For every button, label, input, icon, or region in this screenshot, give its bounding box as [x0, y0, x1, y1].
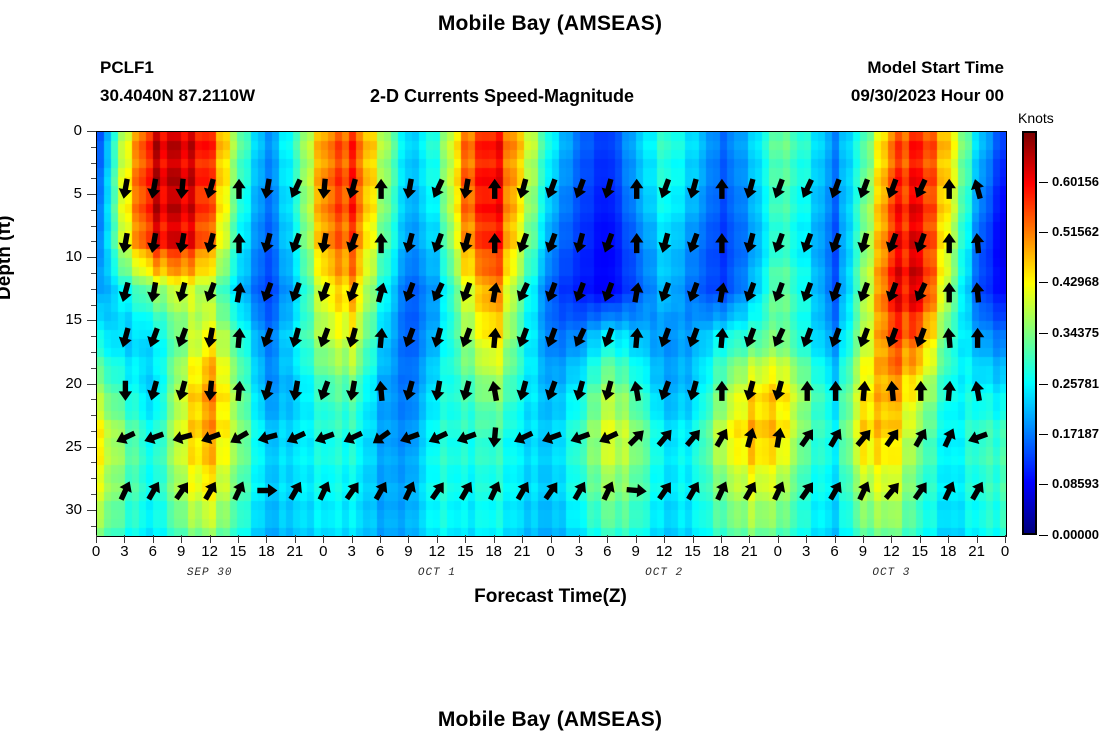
- y-minor-tick: [91, 147, 96, 148]
- y-tick-mark: [87, 257, 96, 258]
- x-tick-mark: [835, 535, 836, 543]
- x-tick-label: 21: [507, 543, 537, 560]
- y-tick-label: 30: [38, 501, 82, 518]
- x-tick-label: 15: [223, 543, 253, 560]
- y-tick-mark: [87, 447, 96, 448]
- x-tick-label: 6: [365, 543, 395, 560]
- y-tick-label: 20: [38, 375, 82, 392]
- x-tick-label: 21: [280, 543, 310, 560]
- y-minor-tick: [91, 289, 96, 290]
- colorbar-tick-label: 0.51562: [1052, 224, 1099, 239]
- x-tick-mark: [238, 535, 239, 543]
- x-tick-mark: [153, 535, 154, 543]
- x-tick-label: 15: [450, 543, 480, 560]
- page-title: Mobile Bay (AMSEAS): [0, 12, 1100, 36]
- y-minor-tick: [91, 526, 96, 527]
- y-tick-mark: [87, 131, 96, 132]
- x-tick-mark: [210, 535, 211, 543]
- y-minor-tick: [91, 462, 96, 463]
- x-tick-label: 9: [848, 543, 878, 560]
- x-tick-label: 9: [621, 543, 651, 560]
- y-tick-mark: [87, 194, 96, 195]
- y-minor-tick: [91, 226, 96, 227]
- x-axis-day-label: SEP 30: [165, 567, 255, 579]
- x-tick-mark: [948, 535, 949, 543]
- x-tick-mark: [778, 535, 779, 543]
- x-tick-label: 0: [763, 543, 793, 560]
- x-tick-label: 6: [820, 543, 850, 560]
- x-tick-mark: [295, 535, 296, 543]
- y-axis-title: Depth (ft): [0, 216, 16, 300]
- x-tick-label: 18: [706, 543, 736, 560]
- current-speed-heatmap: [97, 132, 1006, 536]
- chart-subtitle: 2-D Currents Speed-Magnitude: [370, 86, 634, 107]
- x-tick-mark: [465, 535, 466, 543]
- x-tick-mark: [408, 535, 409, 543]
- y-minor-tick: [91, 478, 96, 479]
- x-tick-mark: [579, 535, 580, 543]
- x-tick-mark: [693, 535, 694, 543]
- x-tick-label: 6: [138, 543, 168, 560]
- x-tick-mark: [636, 535, 637, 543]
- y-minor-tick: [91, 494, 96, 495]
- x-tick-label: 12: [876, 543, 906, 560]
- x-tick-label: 3: [791, 543, 821, 560]
- x-axis-title: Forecast Time(Z): [96, 586, 1005, 608]
- x-tick-label: 3: [564, 543, 594, 560]
- y-minor-tick: [91, 399, 96, 400]
- y-minor-tick: [91, 336, 96, 337]
- x-tick-label: 18: [251, 543, 281, 560]
- x-tick-label: 21: [734, 543, 764, 560]
- x-tick-mark: [977, 535, 978, 543]
- x-tick-mark: [494, 535, 495, 543]
- x-tick-label: 9: [393, 543, 423, 560]
- x-tick-label: 21: [962, 543, 992, 560]
- y-minor-tick: [91, 273, 96, 274]
- colorbar-tick-label: 0.17187: [1052, 426, 1099, 441]
- colorbar-tick-mark: [1039, 182, 1048, 183]
- x-tick-mark: [551, 535, 552, 543]
- x-tick-label: 0: [308, 543, 338, 560]
- heatmap-plot-area[interactable]: [96, 131, 1007, 537]
- y-tick-label: 0: [38, 122, 82, 139]
- y-minor-tick: [91, 210, 96, 211]
- x-tick-label: 3: [337, 543, 367, 560]
- x-tick-mark: [437, 535, 438, 543]
- x-tick-mark: [891, 535, 892, 543]
- x-tick-label: 15: [905, 543, 935, 560]
- x-tick-mark: [124, 535, 125, 543]
- y-tick-label: 25: [38, 438, 82, 455]
- colorbar-unit-label: Knots: [1018, 110, 1054, 126]
- y-minor-tick: [91, 415, 96, 416]
- colorbar-tick-label: 0.60156: [1052, 174, 1099, 189]
- x-tick-mark: [522, 535, 523, 543]
- y-minor-tick: [91, 305, 96, 306]
- x-axis-day-label: OCT 2: [619, 567, 709, 579]
- station-id: PCLF1: [100, 58, 154, 78]
- x-tick-mark: [96, 535, 97, 543]
- x-tick-label: 0: [536, 543, 566, 560]
- x-tick-mark: [380, 535, 381, 543]
- x-tick-mark: [352, 535, 353, 543]
- y-tick-mark: [87, 320, 96, 321]
- x-tick-label: 9: [166, 543, 196, 560]
- colorbar-tick-mark: [1039, 384, 1048, 385]
- x-tick-label: 0: [990, 543, 1020, 560]
- x-tick-mark: [181, 535, 182, 543]
- y-tick-mark: [87, 510, 96, 511]
- x-tick-mark: [1005, 535, 1006, 543]
- colorbar[interactable]: [1022, 131, 1037, 535]
- y-minor-tick: [91, 368, 96, 369]
- model-start-time-value: 09/30/2023 Hour 00: [851, 86, 1004, 106]
- colorbar-tick-mark: [1039, 232, 1048, 233]
- bottom-page-title: Mobile Bay (AMSEAS): [0, 708, 1100, 732]
- x-tick-label: 15: [678, 543, 708, 560]
- colorbar-tick-mark: [1039, 484, 1048, 485]
- x-tick-mark: [664, 535, 665, 543]
- x-tick-label: 12: [195, 543, 225, 560]
- x-tick-mark: [863, 535, 864, 543]
- x-tick-label: 0: [81, 543, 111, 560]
- x-tick-label: 12: [649, 543, 679, 560]
- x-tick-mark: [266, 535, 267, 543]
- colorbar-tick-mark: [1039, 282, 1048, 283]
- y-minor-tick: [91, 241, 96, 242]
- y-minor-tick: [91, 352, 96, 353]
- y-tick-label: 15: [38, 311, 82, 328]
- colorbar-tick-mark: [1039, 333, 1048, 334]
- x-tick-mark: [920, 535, 921, 543]
- colorbar-gradient: [1024, 133, 1035, 533]
- model-start-time-label: Model Start Time: [867, 58, 1004, 78]
- colorbar-tick-mark: [1039, 434, 1048, 435]
- x-tick-label: 6: [592, 543, 622, 560]
- x-tick-label: 12: [422, 543, 452, 560]
- x-tick-mark: [806, 535, 807, 543]
- x-tick-label: 18: [479, 543, 509, 560]
- colorbar-tick-label: 0.00000: [1052, 527, 1099, 542]
- y-tick-mark: [87, 384, 96, 385]
- x-tick-mark: [749, 535, 750, 543]
- x-tick-mark: [607, 535, 608, 543]
- x-axis-day-label: OCT 3: [846, 567, 936, 579]
- y-tick-label: 10: [38, 248, 82, 265]
- colorbar-tick-label: 0.34375: [1052, 325, 1099, 340]
- x-tick-mark: [323, 535, 324, 543]
- y-tick-label: 5: [38, 185, 82, 202]
- colorbar-tick-label: 0.42968: [1052, 274, 1099, 289]
- x-tick-label: 18: [933, 543, 963, 560]
- colorbar-tick-label: 0.25781: [1052, 376, 1099, 391]
- x-axis-day-label: OCT 1: [392, 567, 482, 579]
- colorbar-tick-mark: [1039, 535, 1048, 536]
- y-minor-tick: [91, 431, 96, 432]
- station-coordinates: 30.4040N 87.2110W: [100, 86, 255, 106]
- x-tick-mark: [721, 535, 722, 543]
- y-minor-tick: [91, 178, 96, 179]
- x-tick-label: 3: [109, 543, 139, 560]
- y-minor-tick: [91, 163, 96, 164]
- colorbar-tick-label: 0.08593: [1052, 476, 1099, 491]
